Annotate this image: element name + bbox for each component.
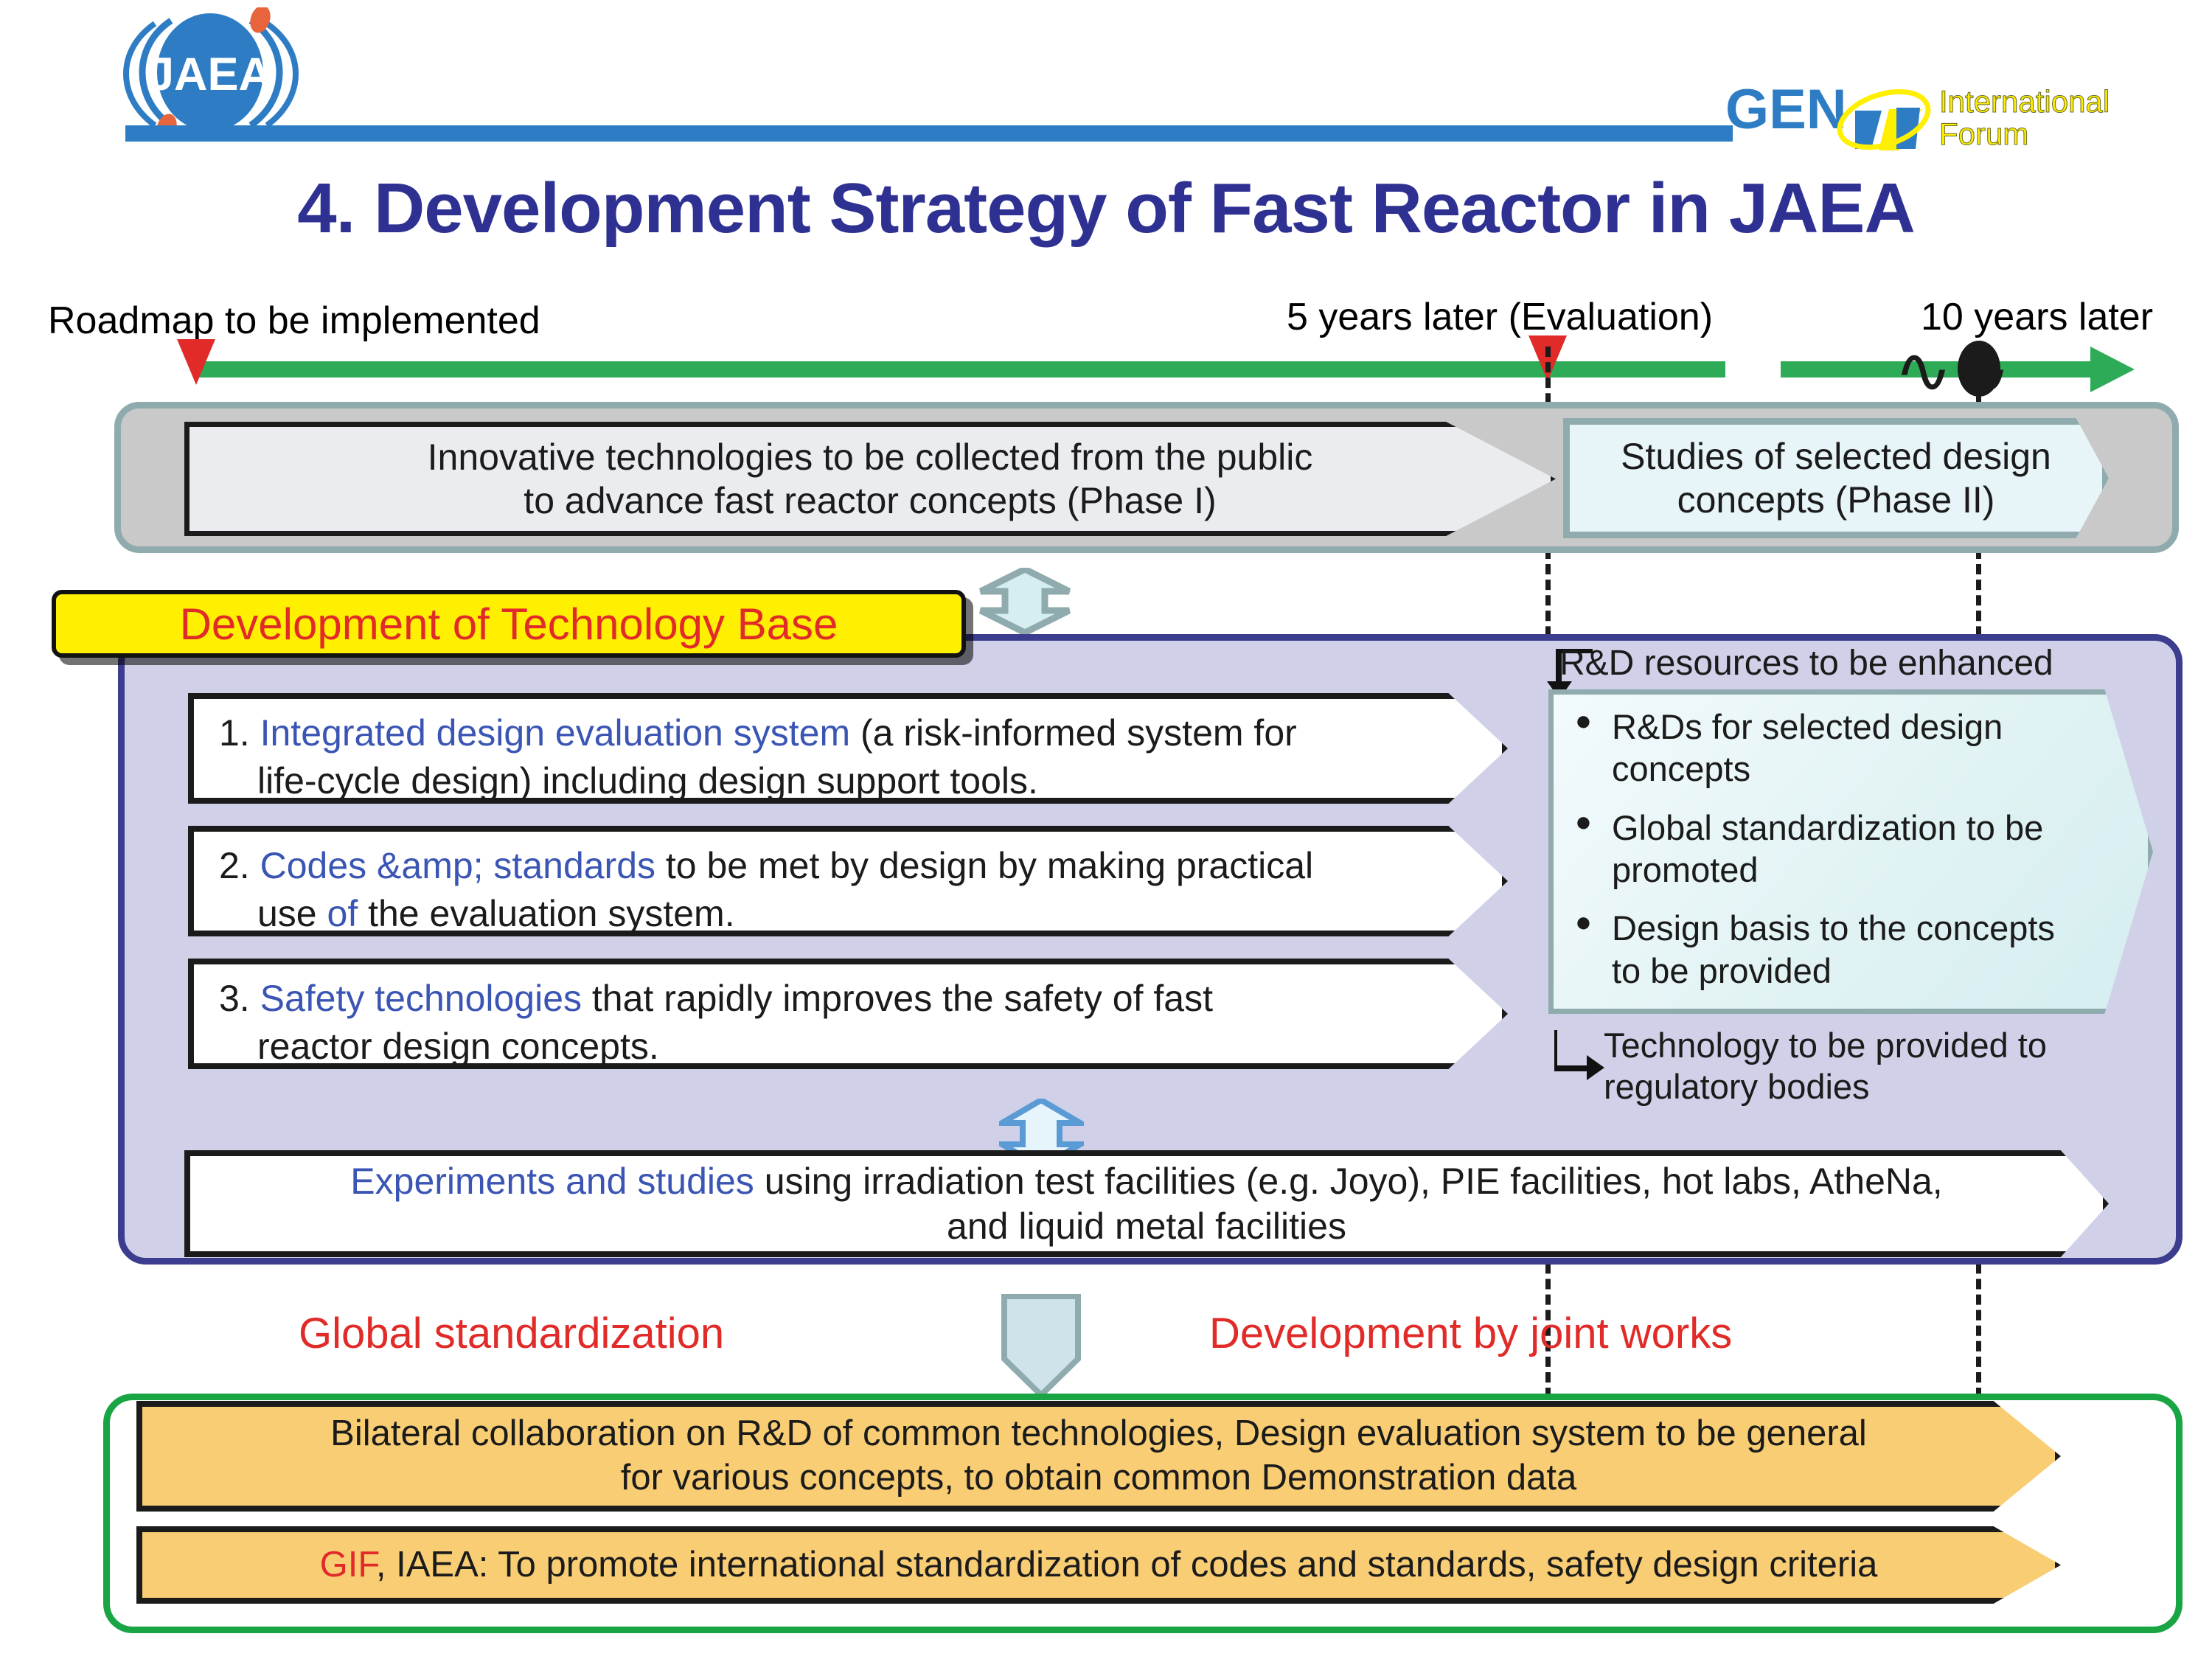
- tech-item-1-line2: life-cycle design) including design supp…: [219, 760, 1038, 801]
- tech-item-2-num: 2.: [219, 845, 250, 886]
- tech-item-2-line2-pre: use: [219, 893, 327, 934]
- phase2-chevron: Studies of selected design concepts (Pha…: [1563, 418, 2109, 538]
- timeline-marker-start-icon: [177, 339, 215, 385]
- rd-resources-header: R&D resources to be enhanced: [1559, 643, 2053, 684]
- phase2-line1: Studies of selected design: [1621, 435, 2051, 479]
- header-rule: [125, 125, 1733, 142]
- tech-item-1-highlight: Integrated design evaluation system: [260, 712, 851, 754]
- svg-text:GEN: GEN: [1725, 78, 1847, 141]
- rd-bullet-1: R&Ds for selected design concepts: [1571, 706, 2087, 790]
- phase2-line2: concepts (Phase II): [1677, 479, 1995, 522]
- rd-bullet-2: Global standardization to be promoted: [1571, 807, 2087, 891]
- tech-item-3-rest: that rapidly improves the safety of fast: [582, 978, 1213, 1019]
- rd-resources-chevron: R&Ds for selected design concepts Global…: [1548, 689, 2153, 1014]
- tech-item-2-line2-highlight: of: [327, 893, 358, 934]
- tech-item-3-num: 3.: [219, 978, 250, 1019]
- experiments-highlight: Experiments and studies: [350, 1161, 754, 1202]
- phase1-line1: Innovative technologies to be collected …: [428, 436, 1313, 479]
- regulatory-note-line1: Technology to be provided to: [1604, 1025, 2164, 1066]
- timeline-line-segment-1: [199, 361, 1725, 378]
- double-arrow-vertical-icon-top: [977, 568, 1073, 634]
- tech-item-2-line2-post: the evaluation system.: [358, 893, 734, 934]
- timeline-end-label: 10 years later: [1921, 295, 2153, 339]
- experiments-line2: and liquid metal facilities: [947, 1204, 1346, 1249]
- tech-item-3: 3. Safety technologies that rapidly impr…: [188, 959, 1508, 1069]
- jaea-logo-text: JAEA: [148, 49, 272, 100]
- right-hook-arrow-icon: [1554, 1029, 1606, 1080]
- tech-item-1-rest: (a risk-informed system for: [850, 712, 1297, 754]
- tech-item-2-highlight: Codes &amp; standards: [260, 845, 655, 886]
- caption-development-joint-works: Development by joint works: [1209, 1309, 1732, 1358]
- timeline-arrowhead-icon: [2090, 347, 2135, 392]
- svg-text:International: International: [1939, 84, 2110, 119]
- regulatory-note-line2: regulatory bodies: [1604, 1066, 2164, 1107]
- gif-rest: , IAEA: To promote international standar…: [376, 1545, 1878, 1585]
- tech-item-2: 2. Codes &amp; standards to be met by de…: [188, 826, 1508, 936]
- bilateral-line1: Bilateral collaboration on R&D of common…: [330, 1412, 1867, 1456]
- double-arrow-vertical-icon-bottom: [999, 1294, 1084, 1397]
- rd-bullet-3: Design basis to the concepts to be provi…: [1571, 907, 2087, 992]
- phase1-chevron: Innovative technologies to be collected …: [184, 422, 1556, 536]
- tech-item-3-highlight: Safety technologies: [260, 978, 582, 1019]
- tech-item-3-line2: reactor design concepts.: [219, 1026, 659, 1067]
- technology-base-label: Development of Technology Base: [52, 590, 966, 658]
- page-title: 4. Development Strategy of Fast Reactor …: [0, 168, 2212, 249]
- gif-label: GIF: [320, 1545, 376, 1585]
- gif-iaea-chevron: GIF, IAEA: To promote international stan…: [136, 1526, 2061, 1604]
- bilateral-collaboration-chevron: Bilateral collaboration on R&D of common…: [136, 1401, 2061, 1512]
- timeline-start-label: Roadmap to be implemented: [48, 299, 540, 343]
- tech-item-1-num: 1.: [219, 712, 250, 754]
- tech-item-2-rest: to be met by design by making practical: [655, 845, 1313, 886]
- bilateral-line2: for various concepts, to obtain common D…: [621, 1456, 1576, 1500]
- timeline-mid-label: 5 years later (Evaluation): [1287, 295, 1713, 339]
- caption-global-standardization: Global standardization: [299, 1309, 724, 1358]
- gen4-international-forum-logo: GEN International Forum: [1725, 74, 2138, 155]
- experiments-rest: using irradiation test facilities (e.g. …: [754, 1161, 1943, 1202]
- rd-bullet-list: R&Ds for selected design concepts Global…: [1571, 706, 2087, 1008]
- jaea-logo: JAEA: [103, 7, 347, 140]
- experiments-chevron: Experiments and studies using irradiatio…: [184, 1150, 2109, 1257]
- tech-item-1: 1. Integrated design evaluation system (…: [188, 693, 1508, 804]
- phase1-line2: to advance fast reactor concepts (Phase …: [524, 479, 1216, 523]
- svg-text:Forum: Forum: [1939, 116, 2028, 151]
- regulatory-note: Technology to be provided to regulatory …: [1604, 1025, 2164, 1108]
